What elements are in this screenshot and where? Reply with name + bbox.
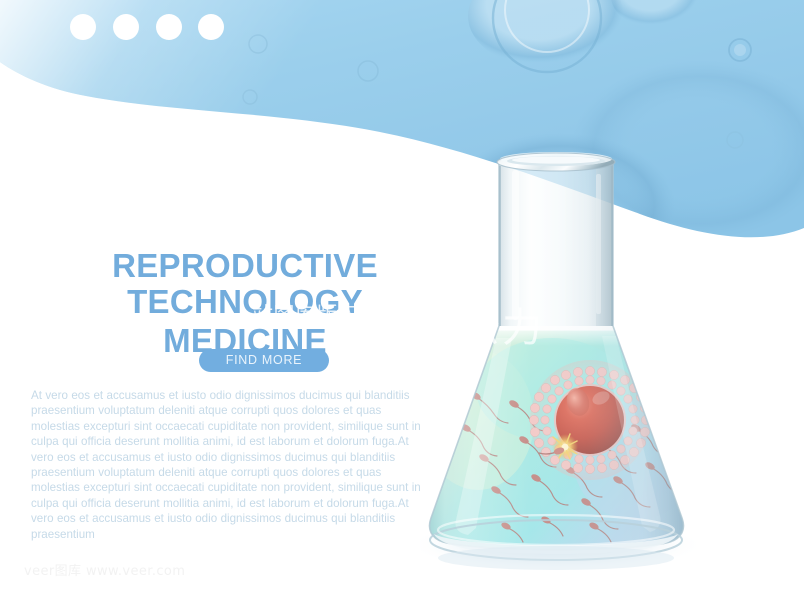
find-more-button[interactable]: FIND MORE xyxy=(199,349,329,372)
watermark-footer: veer图库 www.veer.com xyxy=(24,560,185,579)
ovum-cell xyxy=(529,360,650,480)
title-line-1: REPRODUCTIVE TECHNOLOGY xyxy=(0,248,490,319)
decor-dot-2 xyxy=(113,14,139,40)
banner-canvas: REPRODUCTIVE TECHNOLOGY MEDICINE FIND MO… xyxy=(0,0,804,590)
flask-rim xyxy=(497,152,615,171)
decor-dot-3 xyxy=(156,14,182,40)
hero-body-text: At vero eos et accusamus et iusto odio d… xyxy=(31,388,421,542)
page-title: REPRODUCTIVE TECHNOLOGY MEDICINE xyxy=(0,248,490,359)
decor-dot-4 xyxy=(198,14,224,40)
fertilization-spark xyxy=(539,434,578,460)
flask-base xyxy=(430,515,682,560)
decor-dot-1 xyxy=(70,14,96,40)
